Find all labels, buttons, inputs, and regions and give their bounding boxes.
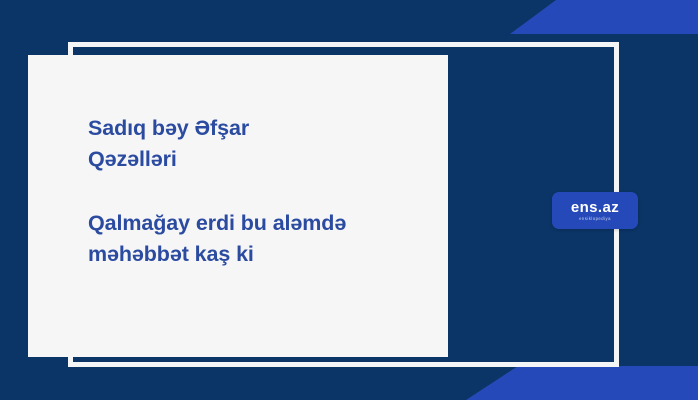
card-text-block: Sadıq bəy Əfşar Qəzəlləri Qalmağay erdi … [88,113,426,269]
excerpt-line-1: Qalmağay erdi bu aləmdə [88,208,426,239]
title-line-2: Qəzəlləri [88,144,426,175]
logo-tagline: ensiklopediya [579,217,611,221]
excerpt-line-2: məhəbbət kaş ki [88,239,426,270]
title-line-1: Sadıq bəy Əfşar [88,113,426,144]
ens-az-logo[interactable]: ens.az ensiklopediya [552,192,638,229]
poster-canvas: Sadıq bəy Əfşar Qəzəlləri Qalmağay erdi … [0,0,698,400]
content-card: Sadıq bəy Əfşar Qəzəlləri Qalmağay erdi … [28,55,448,357]
page-title: Sadıq bəy Əfşar Qəzəlləri [88,113,426,174]
logo-wordmark: ens.az [571,200,619,215]
poem-excerpt: Qalmağay erdi bu aləmdə məhəbbət kaş ki [88,208,426,269]
